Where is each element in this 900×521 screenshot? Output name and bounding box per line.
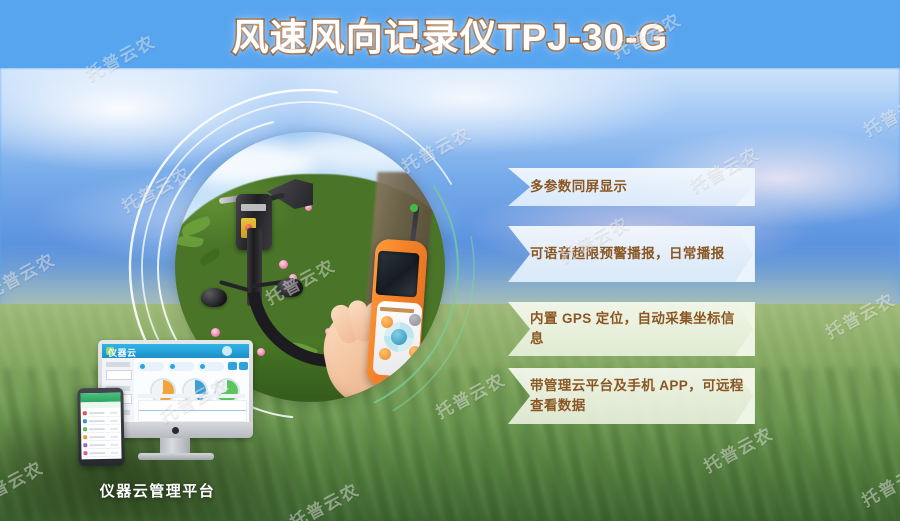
photo-cloud: [295, 132, 445, 172]
list-item-label: [89, 452, 105, 454]
sidebar-label: [106, 362, 130, 367]
list-item-icon: [83, 419, 87, 423]
monitor-stand-neck: [160, 438, 190, 454]
list-item-icon: [83, 411, 87, 415]
feature-ribbon-gps: 内置 GPS 定位，自动采集坐标信息: [508, 302, 754, 356]
feature-ribbon-cloud-app: 带管理云平台及手机 APP，可远程查看数据: [508, 368, 754, 424]
monitor-screen: 仪器云: [102, 344, 249, 422]
monitor-logo-icon: [172, 427, 179, 434]
platform-caption: 仪器云管理平台: [0, 480, 315, 501]
ribbon-notch-right: [735, 302, 755, 356]
phone-list-item: [82, 410, 120, 418]
list-item-icon: [83, 443, 87, 447]
list-item-label: [89, 444, 105, 446]
phone-list-item: [82, 450, 120, 458]
tab-dot-icon: [140, 364, 145, 369]
feature-ribbon-multi-param-display: 多参数同屏显示: [508, 168, 754, 206]
chart-panel: [138, 400, 247, 422]
dashboard-avatar: [222, 346, 232, 356]
list-item-icon: [83, 427, 87, 431]
dashboard-header: 仪器云: [102, 344, 249, 358]
tab-dot-icon: [200, 364, 205, 369]
dashboard-button[interactable]: [239, 362, 248, 370]
feature-text: 带管理云平台及手机 APP，可远程查看数据: [530, 376, 748, 416]
ribbon-notch-right: [735, 226, 755, 282]
title-banner: 风速风向记录仪TPJ-30-G: [0, 0, 900, 68]
sidebar-field: [106, 370, 132, 380]
phone-screen: [80, 393, 121, 460]
feature-text: 多参数同屏显示: [530, 177, 627, 197]
anemometer-cup: [201, 288, 227, 307]
device-button: [381, 316, 393, 328]
phone-app-subheader: [81, 402, 121, 409]
list-item-value: [110, 420, 118, 422]
list-item-label: [89, 420, 105, 422]
device-button: [409, 346, 421, 358]
list-item-label: [89, 412, 105, 414]
ribbon-notch-right: [735, 168, 755, 206]
list-item-value: [110, 436, 118, 438]
photo-flower: [211, 328, 220, 337]
gauge-fill: [216, 380, 238, 402]
list-item-label: [89, 436, 105, 438]
page-title: 风速风向记录仪TPJ-30-G: [0, 0, 900, 68]
feature-text: 可语音超限预警播报，日常播报: [530, 244, 725, 264]
ribbon-notch-right: [735, 368, 755, 424]
anemometer-label: [241, 204, 266, 211]
device-screen: [376, 251, 420, 298]
product-poster: 风速风向记录仪TPJ-30-G: [0, 0, 900, 521]
list-item-value: [110, 444, 118, 446]
gauge-fill: [152, 380, 174, 402]
device-antenna-tip-icon: [410, 204, 418, 212]
dashboard-button[interactable]: [228, 362, 237, 370]
cloud-platform-devices: 仪器云: [60, 340, 270, 465]
list-item-value: [110, 412, 118, 414]
phone-list-item: [82, 434, 120, 442]
tab-dot-icon: [170, 364, 175, 369]
photo-flower: [279, 260, 288, 269]
device-button: [379, 348, 391, 360]
feature-text: 内置 GPS 定位，自动采集坐标信息: [530, 309, 748, 349]
phone-list-item: [82, 442, 120, 450]
list-item-value: [110, 452, 118, 454]
list-item-value: [110, 428, 118, 430]
gauge-fill: [184, 380, 206, 402]
list-item-icon: [83, 435, 87, 439]
monitor-stand-base: [138, 453, 214, 460]
device-button: [409, 314, 421, 326]
chart-title-bar: [138, 394, 245, 398]
list-item-icon: [83, 451, 87, 455]
chart-line: [139, 410, 246, 411]
phone-list-item: [82, 426, 120, 434]
feature-ribbon-voice-alarm: 可语音超限预警播报，日常播报: [508, 226, 754, 282]
phone-list-item: [82, 418, 120, 426]
list-item-label: [89, 428, 105, 430]
